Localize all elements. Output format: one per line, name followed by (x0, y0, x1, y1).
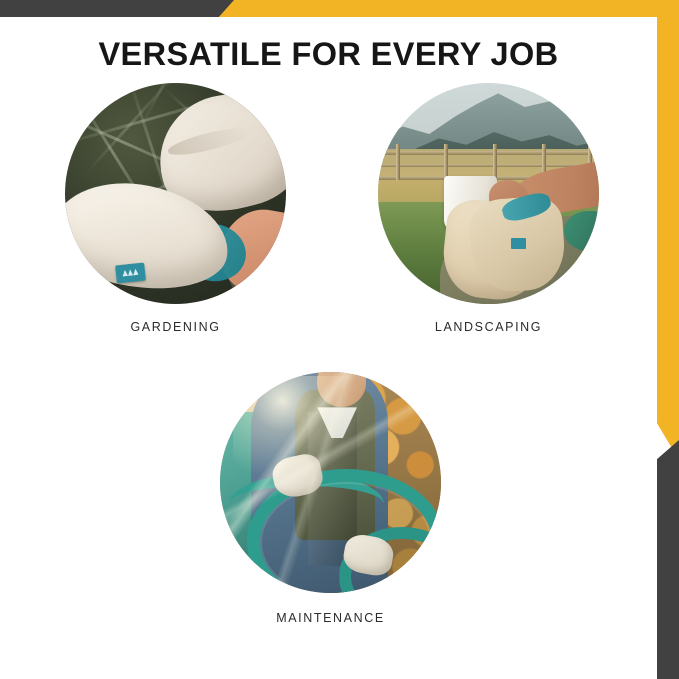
feature-tile-landscaping: LANDSCAPING (376, 83, 601, 334)
right-accent-band-yellow (657, 0, 679, 460)
photo-gardening (65, 83, 286, 304)
tile-caption: GARDENING (63, 320, 288, 334)
photo-maintenance (220, 372, 441, 593)
tile-caption: MAINTENANCE (218, 611, 443, 625)
photo-landscaping (378, 83, 599, 304)
feature-tile-maintenance: MAINTENANCE (218, 372, 443, 625)
top-accent-band-dark (0, 0, 234, 17)
product-infographic: VERSATILE FOR EVERY JOB GARDENING (0, 0, 679, 679)
brand-tag (511, 238, 526, 249)
brand-tag (115, 263, 145, 284)
feature-tile-gardening: GARDENING (63, 83, 288, 334)
tile-caption: LANDSCAPING (376, 320, 601, 334)
page-title: VERSATILE FOR EVERY JOB (0, 36, 657, 73)
right-accent-band-dark (657, 440, 679, 679)
